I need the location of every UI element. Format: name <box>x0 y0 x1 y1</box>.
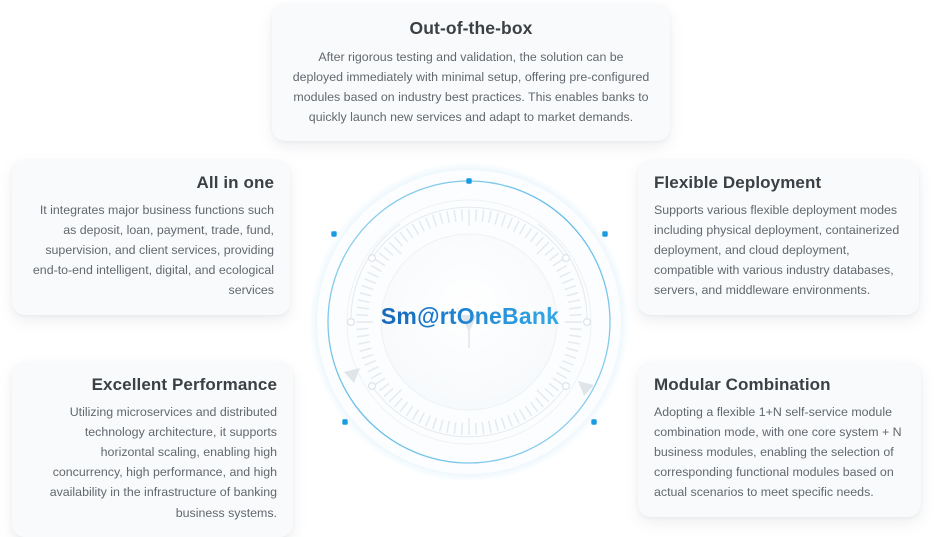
ring-dot-top <box>466 178 471 183</box>
ring-tick <box>545 247 554 255</box>
ring-tick <box>562 279 573 284</box>
ring-tick <box>358 342 370 344</box>
ring-tick <box>413 409 419 419</box>
ring-tick <box>426 415 431 426</box>
ring-tick <box>389 242 401 254</box>
ring-tick <box>556 373 566 379</box>
arc-endpoint-dot <box>348 319 355 326</box>
ring-tick <box>553 259 563 266</box>
ring-dot-left-upper <box>331 231 336 236</box>
ring-tick <box>476 423 477 435</box>
ring-tick <box>525 406 532 416</box>
ring-tick <box>360 348 372 351</box>
center-brand-label: Sm@rtOneBank <box>335 303 605 330</box>
ring-tick <box>508 218 513 229</box>
ring-tick <box>501 215 505 226</box>
ring-tick <box>371 266 381 272</box>
feature-card-out-of-the-box: Out-of-the-box After rigorous testing an… <box>272 4 670 141</box>
ring-tick <box>356 329 368 330</box>
ring-tick <box>384 247 393 255</box>
ring-tick <box>567 293 579 296</box>
ring-tick <box>454 422 456 434</box>
card-body-excellent-performance: Utilizing microservices and distributed … <box>28 402 277 523</box>
ring-tick <box>553 378 563 385</box>
ring-tick <box>489 211 491 223</box>
ring-tick <box>360 293 372 296</box>
ring-tick <box>440 213 443 225</box>
ring-tick <box>406 406 413 416</box>
inner-disc <box>381 234 557 410</box>
ring-dot-left-lower <box>342 419 347 424</box>
ring-tick <box>371 373 381 379</box>
ring-tick <box>570 315 582 316</box>
feature-card-all-in-one: All in one It integrates major business … <box>12 160 290 315</box>
arc-endpoint-dot <box>584 319 591 326</box>
ring-tick <box>545 389 554 397</box>
ring-tick <box>501 418 505 429</box>
feature-card-excellent-performance: Excellent Performance Utilizing microser… <box>12 362 293 537</box>
ring-tick <box>514 413 519 424</box>
ring-tick <box>530 232 537 242</box>
ring-tick <box>530 402 537 412</box>
ring-tick <box>560 367 571 372</box>
ring-tick <box>520 409 526 419</box>
card-title-flexible-deployment: Flexible Deployment <box>654 172 903 194</box>
ring-tick <box>536 237 544 246</box>
card-body-out-of-the-box: After rigorous testing and validation, t… <box>292 47 650 127</box>
ring-tick <box>568 342 580 344</box>
ring-tick <box>489 421 491 433</box>
arc-endpoint-dot <box>369 383 376 390</box>
feature-card-modular-combination: Modular Combination Adopting a flexible … <box>638 362 921 517</box>
triangle-marker-southwest <box>344 368 360 383</box>
ring-tick <box>482 210 484 222</box>
ring-tick <box>440 420 443 432</box>
ring-tick <box>433 215 437 226</box>
ring-tick <box>556 266 566 272</box>
ring-tick <box>560 272 571 277</box>
ring-tick <box>562 361 573 366</box>
ring-tick <box>379 383 389 390</box>
ring-tick <box>565 286 576 290</box>
ring-tick <box>568 300 580 302</box>
mid-halo-ring <box>347 200 591 444</box>
ring-tick <box>495 420 498 432</box>
ring-tick <box>447 421 449 433</box>
card-body-all-in-one: It integrates major business functions s… <box>28 200 274 300</box>
card-body-flexible-deployment: Supports various flexible deployment mod… <box>654 200 903 300</box>
ring-tick <box>462 209 463 221</box>
ring-tick <box>362 286 373 290</box>
card-title-out-of-the-box: Out-of-the-box <box>292 17 650 40</box>
outer-ring <box>328 181 610 463</box>
ring-tick <box>419 221 424 232</box>
ring-tick <box>365 279 376 284</box>
ring-tick <box>525 228 532 238</box>
ring-tick <box>406 228 413 238</box>
ring-tick <box>419 413 424 424</box>
ring-tick <box>379 253 389 260</box>
ring-tick <box>520 224 526 234</box>
card-title-modular-combination: Modular Combination <box>654 374 905 396</box>
arc-endpoint-dots <box>348 255 591 390</box>
ring-tick <box>357 335 369 337</box>
ring-tick <box>495 213 498 225</box>
ring-tick <box>400 232 407 242</box>
ring-tick <box>536 398 544 407</box>
ring-tick <box>394 237 402 246</box>
ring-tick <box>476 209 477 221</box>
triangle-markers <box>344 315 594 396</box>
ring-tick <box>357 307 369 309</box>
arc-endpoint-dot <box>563 255 570 262</box>
ring-tick <box>375 259 385 266</box>
ring-tick <box>375 378 385 385</box>
ring-tick <box>549 383 559 390</box>
ring-tick <box>565 354 576 358</box>
ring-dot-right-upper <box>602 231 607 236</box>
ring-tick <box>362 354 373 358</box>
arc-endpoint-dot <box>563 383 570 390</box>
ring-tick <box>384 389 393 397</box>
card-body-modular-combination: Adopting a flexible 1+N self-service mod… <box>654 402 905 502</box>
card-title-excellent-performance: Excellent Performance <box>28 374 277 396</box>
ring-tick <box>394 398 402 407</box>
ring-tick <box>447 211 449 223</box>
ring-tick <box>569 307 581 309</box>
ring-tick <box>368 272 379 277</box>
ring-tick <box>549 253 559 260</box>
tick-ring <box>356 209 582 435</box>
ring-tick <box>570 329 582 330</box>
outer-halo-disc <box>317 170 621 474</box>
ring-tick <box>537 390 549 402</box>
ring-tick <box>365 361 376 366</box>
diagram-stage: Sm@rtOneBank Out-of-the-box After rigoro… <box>0 0 941 500</box>
card-title-all-in-one: All in one <box>28 172 274 194</box>
ring-tick <box>433 418 437 429</box>
decorative-arcs <box>351 207 587 437</box>
outer-glow <box>309 162 629 482</box>
ring-tick <box>368 367 379 372</box>
ring-tick <box>426 218 431 229</box>
feature-card-flexible-deployment: Flexible Deployment Supports various fle… <box>638 160 919 315</box>
ring-tick <box>508 415 513 426</box>
center-ring-graphic <box>304 140 634 500</box>
arc-endpoint-dot <box>369 255 376 262</box>
ring-tick <box>482 422 484 434</box>
ring-tick <box>356 315 368 316</box>
ring-tick <box>400 402 407 412</box>
ring-tick <box>454 210 456 222</box>
ring-tick <box>514 221 519 232</box>
ring-tick <box>389 390 401 402</box>
ring-tick <box>537 242 549 254</box>
ring-tick <box>413 224 419 234</box>
ring-tick <box>358 300 370 302</box>
triangle-marker-top <box>461 315 477 332</box>
ring-accent-dots <box>331 178 607 424</box>
ring-tick <box>567 348 579 351</box>
ring-tick <box>462 423 463 435</box>
triangle-marker-southeast <box>578 381 594 396</box>
ring-dot-right-lower <box>591 419 596 424</box>
ring-tick <box>569 335 581 337</box>
